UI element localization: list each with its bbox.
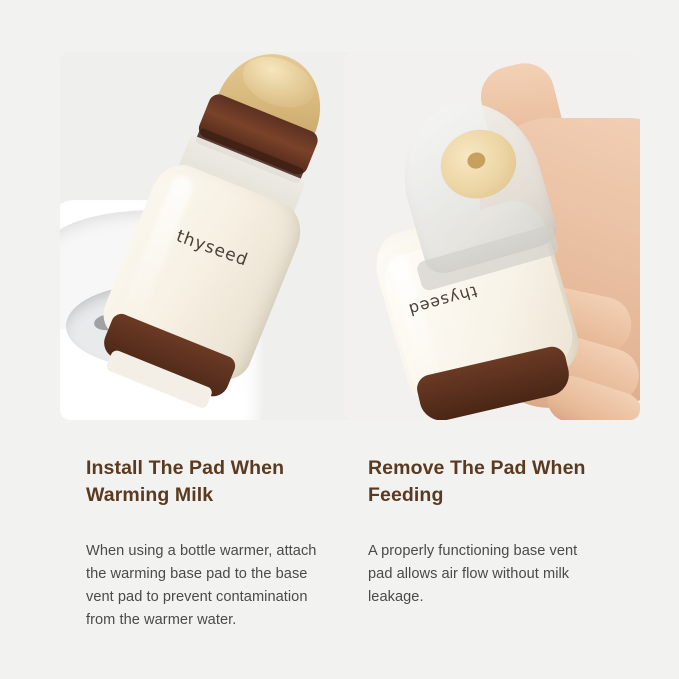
product-infographic: thyseed thyseed [0,0,679,679]
remove-pad-panel: thyseed [344,52,640,420]
install-pad-panel: thyseed [60,52,356,420]
image-panels: thyseed thyseed [0,0,679,430]
caption-body-install: When using a bottle warmer, attach the w… [86,509,326,632]
caption-column-right: Remove The Pad When Feeding A properly f… [368,455,600,609]
caption-column-left: Install The Pad When Warming Milk When u… [86,455,326,632]
caption-heading-remove: Remove The Pad When Feeding [368,455,600,509]
caption-heading-install: Install The Pad When Warming Milk [86,455,326,509]
caption-body-remove: A properly functioning base vent pad all… [368,509,600,609]
